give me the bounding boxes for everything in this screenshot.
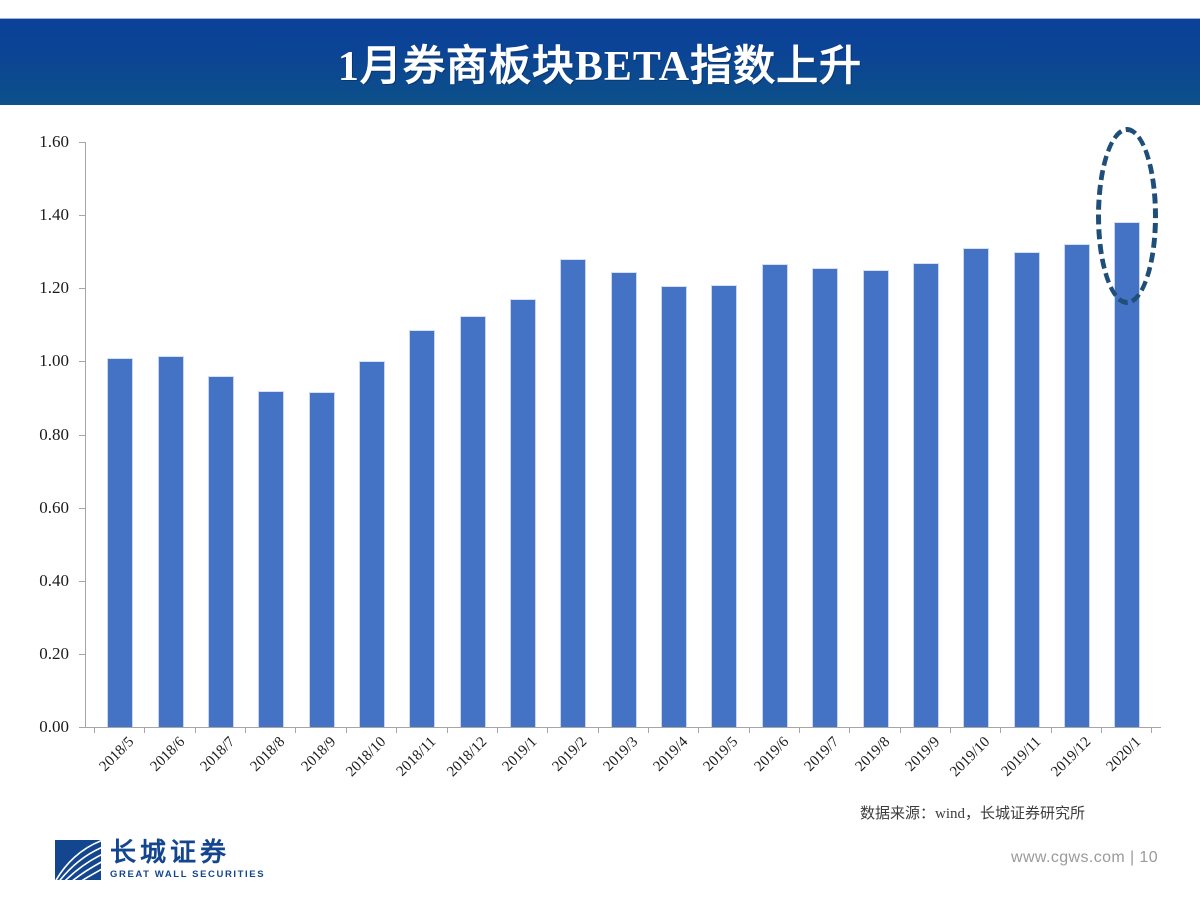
x-axis-tick [950,727,951,733]
y-axis-tick [79,508,85,509]
great-wall-logo-icon [55,840,101,880]
title-bar-top-edge [0,18,1200,19]
y-axis-tick-label: 0.20 [0,644,69,664]
x-axis-tick-label: 2018/11 [394,734,440,780]
y-axis-tick [79,142,85,143]
x-axis-tick-label: 2019/2 [550,734,591,775]
company-logo: 长城证券 GREAT WALL SECURITIES [55,840,265,880]
x-axis-tick [295,727,296,733]
x-axis-tick-label: 2019/11 [998,734,1044,780]
bar [158,356,184,727]
bar [762,264,788,727]
bar [812,268,838,727]
x-axis-tick-label: 2018/12 [444,734,491,781]
x-axis-tick-label: 2019/5 [701,734,742,775]
bar [863,270,889,727]
x-axis-tick-label: 2019/1 [500,734,541,775]
bar [460,316,486,727]
y-axis-tick-label: 0.80 [0,425,69,445]
bar [611,272,637,727]
y-axis-tick-label: 1.40 [0,205,69,225]
bar [208,376,234,727]
x-axis-tick [547,727,548,733]
x-axis-tick-label: 2018/10 [343,734,390,781]
footer-divider [0,832,1200,833]
bar [258,391,284,727]
chart-plot-area: 0.000.200.400.600.801.001.201.401.60 201… [85,142,1160,727]
bar [963,248,989,727]
x-axis-tick [447,727,448,733]
x-axis-tick [94,727,95,733]
bar [409,330,435,727]
y-axis-tick [79,215,85,216]
x-axis-tick [749,727,750,733]
x-axis-tick [849,727,850,733]
x-axis-tick-label: 2018/6 [147,734,188,775]
bar [560,259,586,727]
y-axis-tick-label: 0.40 [0,571,69,591]
x-axis-tick [195,727,196,733]
bar [510,299,536,727]
bar [1064,244,1090,727]
logo-name-en: GREAT WALL SECURITIES [110,870,265,880]
bar [1114,222,1140,727]
x-axis-tick-label: 2018/5 [97,734,138,775]
x-axis-tick-label: 2018/8 [248,734,289,775]
bar [359,361,385,727]
x-axis-tick [1151,727,1152,733]
x-axis-tick-label: 2019/4 [651,734,692,775]
x-axis-tick-label: 2019/8 [852,734,893,775]
x-axis-tick [396,727,397,733]
y-axis-tick-label: 1.60 [0,132,69,152]
y-axis-tick [79,361,85,362]
bar [711,285,737,727]
x-axis-tick-label: 2019/10 [947,734,994,781]
bar [661,286,687,727]
logo-fan-lines [55,840,101,880]
y-axis-tick [79,288,85,289]
slide-footer: 长城证券 GREAT WALL SECURITIES www.cgws.com … [0,832,1200,900]
x-axis-tick [245,727,246,733]
x-axis-tick [598,727,599,733]
x-axis-tick [900,727,901,733]
y-axis-line [85,142,86,728]
title-bar-bottom-edge [0,105,1200,107]
x-axis-tick-label: 2020/1 [1104,734,1145,775]
y-axis-tick-label: 0.60 [0,498,69,518]
x-axis-tick [648,727,649,733]
x-axis-tick [144,727,145,733]
x-axis-tick-label: 2019/12 [1048,734,1095,781]
x-axis-tick [1051,727,1052,733]
bar [913,263,939,727]
x-axis-tick-label: 2019/3 [600,734,641,775]
source-note: 数据来源：wind，长城证券研究所 [860,802,1085,823]
x-axis-tick [698,727,699,733]
y-axis-tick [79,435,85,436]
y-axis-tick [79,654,85,655]
logo-text: 长城证券 GREAT WALL SECURITIES [110,840,265,880]
x-axis-tick [1101,727,1102,733]
logo-name-cn: 长城证券 [110,840,265,866]
y-axis-tick-label: 1.00 [0,351,69,371]
x-axis-tick [497,727,498,733]
y-axis-tick-label: 1.20 [0,278,69,298]
bar [1014,252,1040,727]
x-axis-tick-label: 2018/9 [298,734,339,775]
x-axis-tick-label: 2019/6 [751,734,792,775]
x-axis-tick-label: 2019/9 [902,734,943,775]
y-axis-tick [79,581,85,582]
footer-website-and-page: www.cgws.com | 10 [1011,849,1158,867]
x-axis-tick-label: 2018/7 [197,734,238,775]
bar-chart: 0.000.200.400.600.801.001.201.401.60 201… [0,110,1200,830]
bar [107,358,133,727]
page-title: 1月券商板块BETA指数上升 [338,32,862,93]
y-axis-tick-label: 0.00 [0,717,69,737]
slide-title-bar: 1月券商板块BETA指数上升 [0,18,1200,107]
x-axis-tick [346,727,347,733]
y-axis-tick [79,727,85,728]
x-axis-tick [799,727,800,733]
x-axis-tick [1000,727,1001,733]
x-axis-tick-label: 2019/7 [802,734,843,775]
bar [309,392,335,727]
